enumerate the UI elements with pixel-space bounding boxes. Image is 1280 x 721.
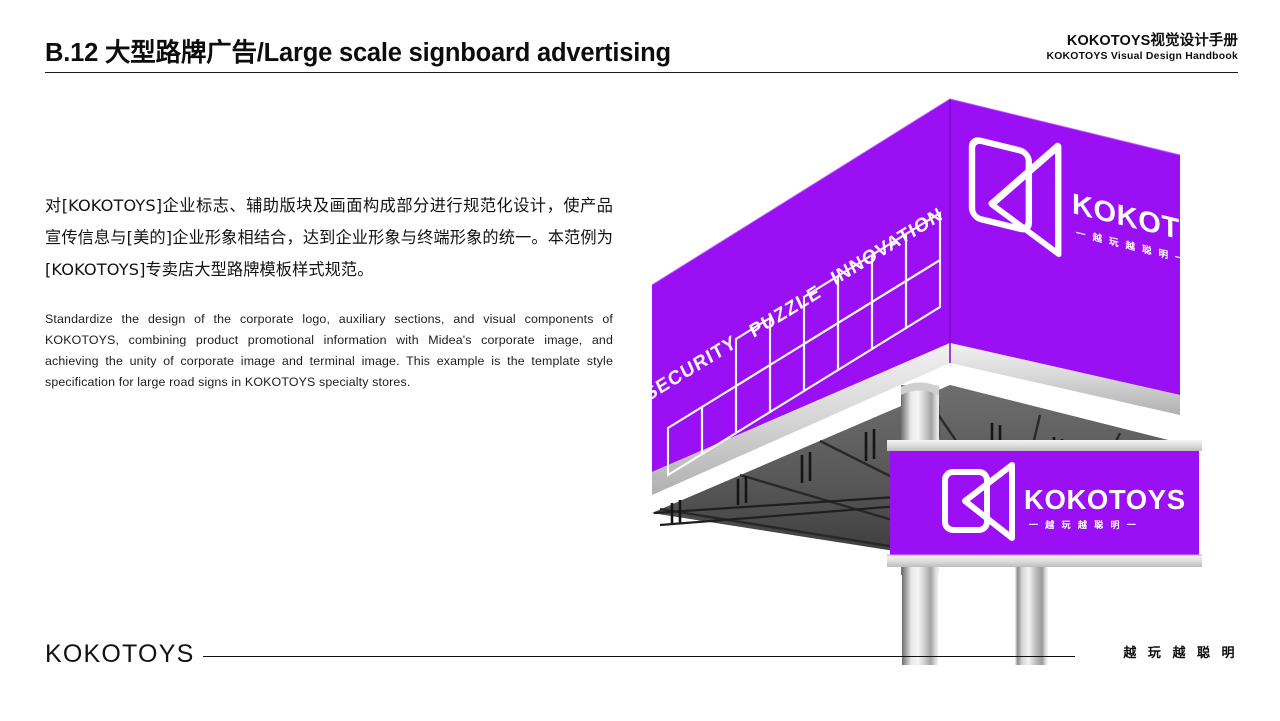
- support-leg-right: [1015, 567, 1048, 665]
- page-title: B.12 大型路牌广告/Large scale signboard advert…: [45, 32, 671, 69]
- signboard-illustration: SECURITY PUZZLE INNOVATION KOKOTOYS 一 越 …: [620, 85, 1280, 665]
- header-brand-block: KOKOTOYS视觉设计手册 KOKOTOYS Visual Design Ha…: [1046, 34, 1238, 62]
- header-divider: [45, 72, 1238, 73]
- support-leg-left: [902, 567, 938, 665]
- description-english: Standardize the design of the corporate …: [45, 309, 613, 393]
- billboard-right-face: KOKOTOYS 一 越 玩 越 聪 明 一: [950, 99, 1242, 415]
- handbook-title-cn: KOKOTOYS视觉设计手册: [1046, 34, 1238, 50]
- description-block: 对[KOKOTOYS]企业标志、辅助版块及画面构成部分进行规范化设计，使产品宣传…: [45, 190, 613, 393]
- footer-tagline: 越 玩 越 聪 明: [1123, 642, 1238, 661]
- lower-sign-panel: KOKOTOYS 一 越 玩 越 聪 明 一: [887, 440, 1202, 567]
- description-chinese: 对[KOKOTOYS]企业标志、辅助版块及画面构成部分进行规范化设计，使产品宣传…: [45, 190, 613, 286]
- lower-wordmark-tagline: 一 越 玩 越 聪 明 一: [1029, 519, 1138, 530]
- footer-divider: [203, 656, 1075, 657]
- lower-support-legs: [902, 567, 1048, 665]
- lower-wordmark-text: KOKOTOYS: [1024, 484, 1186, 515]
- handbook-title-en: KOKOTOYS Visual Design Handbook: [1046, 51, 1238, 62]
- footer-logo: KOKOTOYS: [45, 640, 194, 669]
